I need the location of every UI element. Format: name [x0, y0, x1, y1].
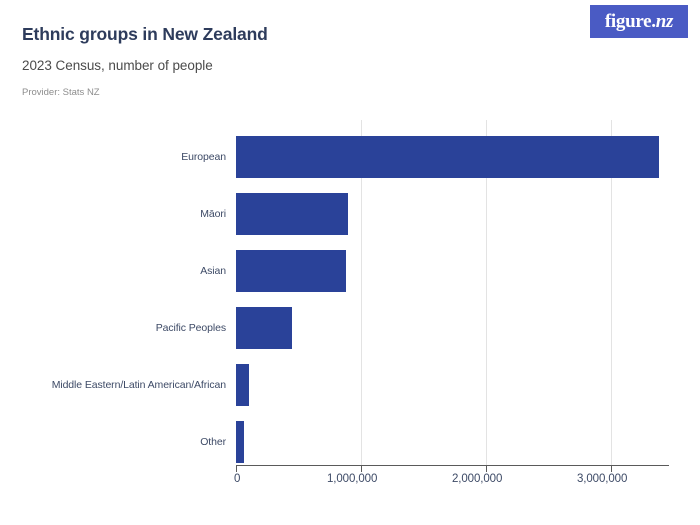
x-axis-tick-labels: 01,000,0002,000,0003,000,000 — [0, 473, 700, 497]
logo-tld: nz — [656, 11, 673, 32]
bar-category-label: Other — [200, 421, 226, 463]
bar-row: European — [0, 136, 700, 178]
chart-subtitle: 2023 Census, number of people — [22, 58, 213, 73]
figurenz-logo-text: figure.nz — [605, 12, 673, 31]
plot-area: EuropeanMāoriAsianPacific PeoplesMiddle … — [0, 118, 700, 473]
axis-tick — [361, 466, 362, 472]
bar-category-label: Pacific Peoples — [156, 307, 226, 349]
bar[interactable] — [236, 250, 346, 292]
x-tick-label: 0 — [234, 473, 240, 485]
bar-track — [236, 250, 346, 292]
bar-track — [236, 136, 659, 178]
bar-category-label: Asian — [200, 250, 226, 292]
bar-track — [236, 307, 292, 349]
bar-category-label: Māori — [200, 193, 226, 235]
x-tick-label: 1,000,000 — [327, 473, 377, 485]
bar-track — [236, 364, 249, 406]
page-title: Ethnic groups in New Zealand — [22, 24, 268, 45]
bar-category-label: Middle Eastern/Latin American/African — [52, 364, 226, 406]
bar[interactable] — [236, 364, 249, 406]
chart-card: Ethnic groups in New Zealand 2023 Census… — [0, 0, 700, 525]
bar-track — [236, 421, 244, 463]
figurenz-logo[interactable]: figure.nz — [590, 5, 688, 38]
bar-row: Middle Eastern/Latin American/African — [0, 364, 700, 406]
chart-provider: Provider: Stats NZ — [22, 87, 100, 98]
logo-name: figure. — [605, 11, 656, 32]
bar[interactable] — [236, 421, 244, 463]
bar-row: Other — [0, 421, 700, 463]
bar-row: Asian — [0, 250, 700, 292]
axis-tick — [236, 466, 237, 472]
bar-row: Māori — [0, 193, 700, 235]
axis-tick — [486, 466, 487, 472]
bar[interactable] — [236, 307, 292, 349]
x-tick-label: 3,000,000 — [577, 473, 627, 485]
bar[interactable] — [236, 136, 659, 178]
bar[interactable] — [236, 193, 348, 235]
x-tick-label: 2,000,000 — [452, 473, 502, 485]
bar-track — [236, 193, 348, 235]
axis-tick — [611, 466, 612, 472]
chart-header: Ethnic groups in New Zealand 2023 Census… — [0, 0, 700, 112]
bar-row: Pacific Peoples — [0, 307, 700, 349]
x-axis-line — [236, 465, 669, 466]
bar-category-label: European — [181, 136, 226, 178]
